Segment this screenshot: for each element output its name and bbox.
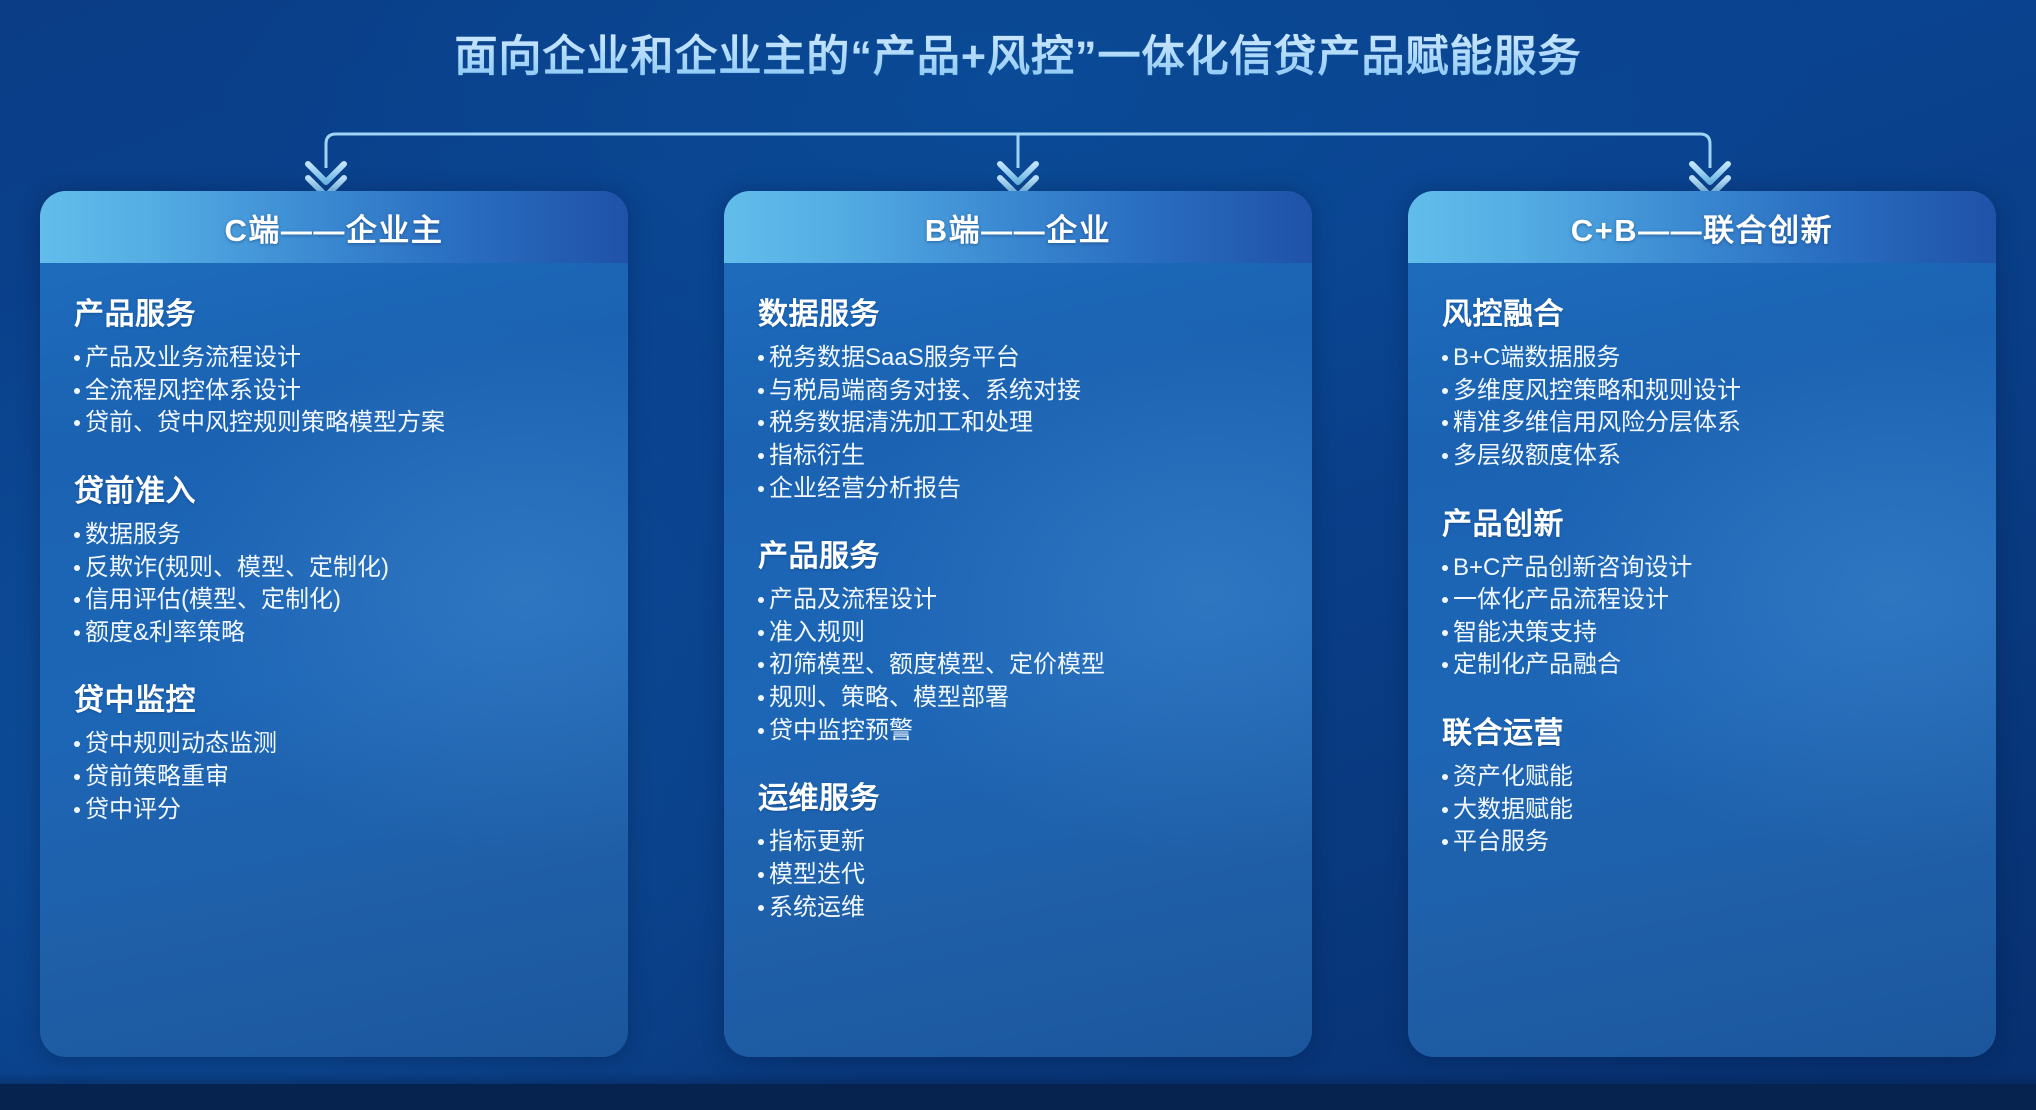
list-item-label: 产品及流程设计 bbox=[769, 584, 937, 617]
bullet-list: 资产化赋能 大数据赋能 平台服务 bbox=[1442, 761, 1962, 859]
list-item: 准入规则 bbox=[758, 617, 1278, 650]
list-item-label: 一体化产品流程设计 bbox=[1453, 584, 1669, 617]
bullet-dot-icon bbox=[74, 420, 80, 426]
list-item-label: 规则、策略、模型部署 bbox=[769, 682, 1009, 715]
list-item-label: 大数据赋能 bbox=[1453, 794, 1573, 827]
section-title: 贷前准入 bbox=[74, 466, 594, 510]
card-header-b-end: B端——企业 bbox=[724, 191, 1312, 263]
card-c-plus-b[interactable]: C+B——联合创新 风控融合 B+C端数据服务 多维度风控策略和规则设计 精准多… bbox=[1408, 191, 1996, 1057]
list-item-label: 贷中评分 bbox=[85, 794, 181, 827]
bullet-dot-icon bbox=[74, 532, 80, 538]
list-item: 数据服务 bbox=[74, 519, 594, 552]
list-item: 贷中规则动态监测 bbox=[74, 728, 594, 761]
list-item: 定制化产品融合 bbox=[1442, 649, 1962, 682]
section-joint-operation: 联合运营 资产化赋能 大数据赋能 平台服务 bbox=[1442, 708, 1962, 859]
list-item: 精准多维信用风险分层体系 bbox=[1442, 407, 1962, 440]
list-item: 贷中监控预警 bbox=[758, 715, 1278, 748]
bullet-dot-icon bbox=[74, 388, 80, 394]
bullet-dot-icon bbox=[1442, 565, 1448, 571]
section-title: 产品创新 bbox=[1442, 499, 1962, 543]
bullet-list: 产品及流程设计 准入规则 初筛模型、额度模型、定价模型 规则、策略、模型部署 贷… bbox=[758, 584, 1278, 747]
bullet-dot-icon bbox=[74, 774, 80, 780]
list-item: 与税局端商务对接、系统对接 bbox=[758, 375, 1278, 408]
page-title: 面向企业和企业主的“产品+风控”一体化信贷产品赋能服务 bbox=[454, 22, 1581, 84]
list-item-label: 系统运维 bbox=[769, 892, 865, 925]
list-item-label: 资产化赋能 bbox=[1453, 761, 1573, 794]
section-title: 风控融合 bbox=[1442, 289, 1962, 333]
list-item-label: 准入规则 bbox=[769, 617, 865, 650]
bullet-dot-icon bbox=[758, 388, 764, 394]
list-item: 产品及流程设计 bbox=[758, 584, 1278, 617]
bullet-dot-icon bbox=[74, 807, 80, 813]
section-title: 产品服务 bbox=[74, 289, 594, 333]
card-body-b-end: 数据服务 税务数据SaaS服务平台 与税局端商务对接、系统对接 税务数据清洗加工… bbox=[724, 263, 1312, 924]
bullet-dot-icon bbox=[74, 565, 80, 571]
list-item-label: 企业经营分析报告 bbox=[769, 473, 961, 506]
card-header-c-plus-b: C+B——联合创新 bbox=[1408, 191, 1996, 263]
list-item-label: 多层级额度体系 bbox=[1453, 440, 1621, 473]
section-data-service: 数据服务 税务数据SaaS服务平台 与税局端商务对接、系统对接 税务数据清洗加工… bbox=[758, 289, 1278, 505]
section-operation-service: 运维服务 指标更新 模型迭代 系统运维 bbox=[758, 773, 1278, 924]
list-item-label: 贷前策略重审 bbox=[85, 761, 229, 794]
list-item: 指标更新 bbox=[758, 826, 1278, 859]
section-title: 联合运营 bbox=[1442, 708, 1962, 752]
section-title: 贷中监控 bbox=[74, 675, 594, 719]
card-body-c-end: 产品服务 产品及业务流程设计 全流程风控体系设计 贷前、贷中风控规则策略模型方案… bbox=[40, 263, 628, 826]
bullet-dot-icon bbox=[758, 597, 764, 603]
section-product-service: 产品服务 产品及流程设计 准入规则 初筛模型、额度模型、定价模型 规则、策略、模… bbox=[758, 531, 1278, 747]
bullet-list: 贷中规则动态监测 贷前策略重审 贷中评分 bbox=[74, 728, 594, 826]
list-item: 贷中评分 bbox=[74, 794, 594, 827]
section-in-loan-monitoring: 贷中监控 贷中规则动态监测 贷前策略重审 贷中评分 bbox=[74, 675, 594, 826]
bullet-dot-icon bbox=[1442, 839, 1448, 845]
list-item: 信用评估(模型、定制化) bbox=[74, 584, 594, 617]
bullet-list: B+C产品创新咨询设计 一体化产品流程设计 智能决策支持 定制化产品融合 bbox=[1442, 552, 1962, 683]
section-risk-control-fusion: 风控融合 B+C端数据服务 多维度风控策略和规则设计 精准多维信用风险分层体系 … bbox=[1442, 289, 1962, 473]
list-item: B+C产品创新咨询设计 bbox=[1442, 552, 1962, 585]
bullet-dot-icon bbox=[758, 905, 764, 911]
bullet-dot-icon bbox=[1442, 662, 1448, 668]
bullet-dot-icon bbox=[74, 741, 80, 747]
list-item-label: 定制化产品融合 bbox=[1453, 649, 1621, 682]
list-item-label: 贷中监控预警 bbox=[769, 715, 913, 748]
list-item-label: 智能决策支持 bbox=[1453, 617, 1597, 650]
list-item: 平台服务 bbox=[1442, 826, 1962, 859]
section-title: 数据服务 bbox=[758, 289, 1278, 333]
bullet-dot-icon bbox=[74, 630, 80, 636]
bullet-dot-icon bbox=[1442, 453, 1448, 459]
list-item: 大数据赋能 bbox=[1442, 794, 1962, 827]
list-item-label: 税务数据清洗加工和处理 bbox=[769, 407, 1033, 440]
list-item: B+C端数据服务 bbox=[1442, 342, 1962, 375]
bullet-dot-icon bbox=[758, 872, 764, 878]
list-item: 税务数据清洗加工和处理 bbox=[758, 407, 1278, 440]
bullet-dot-icon bbox=[758, 420, 764, 426]
list-item-label: 贷前、贷中风控规则策略模型方案 bbox=[85, 407, 445, 440]
list-item: 企业经营分析报告 bbox=[758, 473, 1278, 506]
list-item: 税务数据SaaS服务平台 bbox=[758, 342, 1278, 375]
bullet-dot-icon bbox=[758, 695, 764, 701]
bottom-band bbox=[0, 1084, 2036, 1110]
list-item: 贷前策略重审 bbox=[74, 761, 594, 794]
list-item: 多维度风控策略和规则设计 bbox=[1442, 375, 1962, 408]
card-b-end[interactable]: B端——企业 数据服务 税务数据SaaS服务平台 与税局端商务对接、系统对接 税… bbox=[724, 191, 1312, 1057]
list-item-label: 全流程风控体系设计 bbox=[85, 375, 301, 408]
card-header-label: C端——企业主 bbox=[225, 205, 444, 250]
section-product-innovation: 产品创新 B+C产品创新咨询设计 一体化产品流程设计 智能决策支持 定制化产品融… bbox=[1442, 499, 1962, 683]
bullet-dot-icon bbox=[74, 597, 80, 603]
section-title: 运维服务 bbox=[758, 773, 1278, 817]
list-item-label: 与税局端商务对接、系统对接 bbox=[769, 375, 1081, 408]
list-item: 额度&利率策略 bbox=[74, 617, 594, 650]
list-item-label: 指标更新 bbox=[769, 826, 865, 859]
bullet-dot-icon bbox=[758, 453, 764, 459]
page-title-container: 面向企业和企业主的“产品+风控”一体化信贷产品赋能服务 bbox=[0, 22, 2036, 84]
bullet-dot-icon bbox=[1442, 420, 1448, 426]
list-item: 全流程风控体系设计 bbox=[74, 375, 594, 408]
bullet-dot-icon bbox=[1442, 355, 1448, 361]
bullet-dot-icon bbox=[758, 839, 764, 845]
bullet-dot-icon bbox=[1442, 774, 1448, 780]
bullet-list: 指标更新 模型迭代 系统运维 bbox=[758, 826, 1278, 924]
list-item-label: 平台服务 bbox=[1453, 826, 1549, 859]
list-item-label: 信用评估(模型、定制化) bbox=[85, 584, 341, 617]
list-item: 初筛模型、额度模型、定价模型 bbox=[758, 649, 1278, 682]
bullet-dot-icon bbox=[1442, 388, 1448, 394]
bullet-dot-icon bbox=[758, 355, 764, 361]
list-item: 模型迭代 bbox=[758, 859, 1278, 892]
list-item-label: 额度&利率策略 bbox=[85, 617, 245, 650]
section-pre-loan-access: 贷前准入 数据服务 反欺诈(规则、模型、定制化) 信用评估(模型、定制化) 额度… bbox=[74, 466, 594, 650]
section-title: 产品服务 bbox=[758, 531, 1278, 575]
list-item-label: 反欺诈(规则、模型、定制化) bbox=[85, 552, 389, 585]
bullet-list: 税务数据SaaS服务平台 与税局端商务对接、系统对接 税务数据清洗加工和处理 指… bbox=[758, 342, 1278, 505]
list-item-label: 数据服务 bbox=[85, 519, 181, 552]
bullet-dot-icon bbox=[1442, 597, 1448, 603]
card-header-label: B端——企业 bbox=[925, 205, 1111, 250]
bullet-dot-icon bbox=[758, 486, 764, 492]
bullet-dot-icon bbox=[758, 630, 764, 636]
list-item: 贷前、贷中风控规则策略模型方案 bbox=[74, 407, 594, 440]
card-c-end[interactable]: C端——企业主 产品服务 产品及业务流程设计 全流程风控体系设计 贷前、贷中风控… bbox=[40, 191, 628, 1057]
bullet-dot-icon bbox=[758, 662, 764, 668]
card-row: C端——企业主 产品服务 产品及业务流程设计 全流程风控体系设计 贷前、贷中风控… bbox=[0, 191, 2036, 1057]
bullet-dot-icon bbox=[74, 355, 80, 361]
list-item-label: B+C端数据服务 bbox=[1453, 342, 1620, 375]
bullet-dot-icon bbox=[1442, 807, 1448, 813]
list-item-label: 税务数据SaaS服务平台 bbox=[769, 342, 1020, 375]
bullet-dot-icon bbox=[758, 728, 764, 734]
list-item: 指标衍生 bbox=[758, 440, 1278, 473]
list-item-label: 模型迭代 bbox=[769, 859, 865, 892]
bullet-list: B+C端数据服务 多维度风控策略和规则设计 精准多维信用风险分层体系 多层级额度… bbox=[1442, 342, 1962, 473]
list-item-label: 精准多维信用风险分层体系 bbox=[1453, 407, 1741, 440]
section-product-service: 产品服务 产品及业务流程设计 全流程风控体系设计 贷前、贷中风控规则策略模型方案 bbox=[74, 289, 594, 440]
list-item: 系统运维 bbox=[758, 892, 1278, 925]
list-item: 智能决策支持 bbox=[1442, 617, 1962, 650]
list-item: 资产化赋能 bbox=[1442, 761, 1962, 794]
list-item: 规则、策略、模型部署 bbox=[758, 682, 1278, 715]
list-item: 产品及业务流程设计 bbox=[74, 342, 594, 375]
card-header-c-end: C端——企业主 bbox=[40, 191, 628, 263]
list-item-label: 初筛模型、额度模型、定价模型 bbox=[769, 649, 1105, 682]
bullet-list: 产品及业务流程设计 全流程风控体系设计 贷前、贷中风控规则策略模型方案 bbox=[74, 342, 594, 440]
card-header-label: C+B——联合创新 bbox=[1571, 205, 1833, 250]
list-item: 多层级额度体系 bbox=[1442, 440, 1962, 473]
card-body-c-plus-b: 风控融合 B+C端数据服务 多维度风控策略和规则设计 精准多维信用风险分层体系 … bbox=[1408, 263, 1996, 859]
list-item-label: 产品及业务流程设计 bbox=[85, 342, 301, 375]
bullet-list: 数据服务 反欺诈(规则、模型、定制化) 信用评估(模型、定制化) 额度&利率策略 bbox=[74, 519, 594, 650]
list-item-label: 多维度风控策略和规则设计 bbox=[1453, 375, 1741, 408]
list-item-label: B+C产品创新咨询设计 bbox=[1453, 552, 1692, 585]
list-item: 一体化产品流程设计 bbox=[1442, 584, 1962, 617]
list-item: 反欺诈(规则、模型、定制化) bbox=[74, 552, 594, 585]
list-item-label: 贷中规则动态监测 bbox=[85, 728, 277, 761]
list-item-label: 指标衍生 bbox=[769, 440, 865, 473]
bullet-dot-icon bbox=[1442, 630, 1448, 636]
